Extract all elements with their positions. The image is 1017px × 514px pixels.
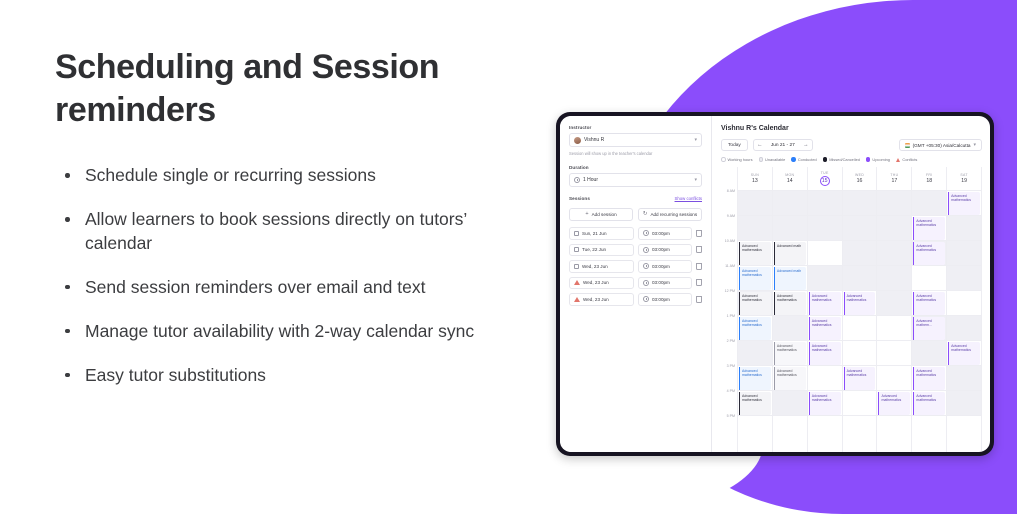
calendar-event[interactable]: Advanced math: [774, 267, 806, 290]
session-date-field[interactable]: Wed, 23 Jun: [569, 260, 634, 273]
avatar: [574, 137, 581, 144]
duration-label: Duration: [569, 165, 702, 170]
session-date-value: Wed, 23 Jun: [583, 297, 609, 302]
plus-icon: +: [585, 212, 588, 218]
day-number[interactable]: 14: [787, 178, 793, 184]
time-slot[interactable]: [912, 341, 946, 366]
time-slot[interactable]: [912, 191, 946, 216]
chevron-down-icon: ▾: [973, 143, 976, 148]
legend-item-unavail: Unavailable: [759, 157, 786, 162]
legend-swatch-working-icon: [721, 157, 726, 162]
time-slot[interactable]: [877, 191, 911, 216]
legend-swatch-missed-icon: [823, 157, 828, 162]
flag-icon: [905, 143, 910, 148]
time-slot[interactable]: [843, 391, 877, 416]
legend-label: Missed/Cancelled: [829, 157, 860, 162]
time-label: 5 PM: [721, 414, 737, 439]
chevron-down-icon: ▾: [694, 138, 697, 143]
calendar-event[interactable]: Advanced mathematics: [913, 242, 945, 265]
calendar-event[interactable]: Advanced mathematics: [739, 317, 771, 340]
time-slot[interactable]: [773, 391, 807, 416]
calendar-icon: [574, 264, 579, 269]
clock-icon: [643, 296, 649, 302]
session-row: Wed, 23 Jun03:00pm: [569, 260, 702, 273]
time-slot[interactable]: [877, 366, 911, 391]
day-name: SAT: [960, 173, 967, 177]
day-column-sun: SUN13Advanced mathematicsAdvanced mathem…: [737, 167, 772, 452]
session-date-value: Sun, 21 Jun: [582, 231, 607, 236]
day-name: SUN: [751, 173, 759, 177]
calendar-event[interactable]: Advanced mathematics: [948, 192, 980, 215]
session-time-value: 03:00pm: [652, 247, 670, 252]
delete-session-icon[interactable]: [696, 230, 702, 237]
session-date-field[interactable]: Tue, 22 Jun: [569, 244, 634, 257]
time-slot[interactable]: [947, 266, 981, 291]
calendar-event[interactable]: Advanced mathematics: [774, 292, 806, 315]
delete-session-icon[interactable]: [696, 263, 702, 270]
time-label: 4 PM: [721, 389, 737, 414]
calendar-event[interactable]: Advanced mathematics: [739, 392, 771, 415]
delete-session-icon[interactable]: [696, 296, 702, 303]
time-label: 10 AM: [721, 239, 737, 264]
calendar-event[interactable]: Advanced mathematics: [913, 292, 945, 315]
clock-icon: [643, 247, 649, 253]
time-slot[interactable]: [843, 241, 877, 266]
clock-icon: [574, 177, 580, 183]
slide-content-column: Scheduling and Session reminders Schedul…: [55, 46, 525, 408]
time-slot[interactable]: [877, 216, 911, 241]
time-slot[interactable]: [843, 191, 877, 216]
time-slot[interactable]: [843, 341, 877, 366]
day-columns: SUN13Advanced mathematicsAdvanced mathem…: [737, 167, 982, 452]
day-slots: Advanced mathematics: [877, 191, 911, 416]
time-slot[interactable]: [947, 216, 981, 241]
day-header: MON14: [773, 167, 807, 191]
time-slot[interactable]: [877, 266, 911, 291]
session-date-value: Wed, 23 Jun: [583, 280, 609, 285]
calendar-grid: 8 AM9 AM10 AM11 AM12 PM1 PM2 PM3 PM4 PM5…: [721, 167, 982, 452]
calendar-event[interactable]: Advanced mathematics: [774, 367, 806, 390]
calendar-panel: Vishnu R's Calendar Today ← Jun 21 - 27 …: [712, 116, 990, 452]
time-slot[interactable]: [773, 316, 807, 341]
time-slot[interactable]: [808, 241, 842, 266]
calendar-event[interactable]: Advanced math: [774, 242, 806, 265]
calendar-event[interactable]: Advanced mathematics: [809, 317, 841, 340]
sessions-label: Sessions: [569, 196, 590, 201]
session-date-value: Wed, 23 Jun: [582, 264, 608, 269]
day-name: FRI: [926, 173, 933, 177]
time-slot[interactable]: [773, 191, 807, 216]
arrow-left-icon[interactable]: ←: [754, 140, 766, 150]
day-header: SUN13: [738, 167, 772, 191]
warning-icon: [574, 280, 580, 286]
day-slots: Advanced mathematicsAdvanced mathematics…: [912, 191, 946, 416]
time-slot[interactable]: [912, 266, 946, 291]
calendar-event[interactable]: Advanced mathematics: [739, 292, 771, 315]
time-slot[interactable]: [877, 241, 911, 266]
time-slot[interactable]: [843, 266, 877, 291]
time-slot[interactable]: [843, 316, 877, 341]
day-name: WED: [855, 173, 864, 177]
add-session-button[interactable]: + Add session: [569, 208, 633, 221]
feature-bullet-item: Manage tutor availability with 2-way cal…: [55, 320, 500, 343]
calendar-event[interactable]: Advanced mathematics: [913, 392, 945, 415]
calendar-toolbar: Today ← Jun 21 - 27 → (GMT +05:30) Asia/…: [721, 139, 982, 151]
chevron-down-icon: ▾: [694, 178, 697, 183]
session-date-field[interactable]: Sun, 21 Jun: [569, 227, 634, 240]
delete-session-icon[interactable]: [696, 279, 702, 286]
calendar-event[interactable]: Advanced mathematics: [809, 342, 841, 365]
instructor-helper-text: Session will show up in the teacher's ca…: [569, 151, 702, 156]
day-number[interactable]: 17: [891, 178, 897, 184]
day-header: FRI18: [912, 167, 946, 191]
day-number[interactable]: 13: [752, 178, 758, 184]
time-slot[interactable]: [808, 366, 842, 391]
day-slots: Advanced mathematicsAdvanced mathematics…: [738, 191, 772, 416]
session-time-field[interactable]: 03:00pm: [638, 293, 692, 306]
session-time-value: 03:00pm: [652, 264, 670, 269]
legend-swatch-unavail-icon: [759, 157, 764, 162]
time-slot[interactable]: [738, 191, 772, 216]
legend-item-conflict: Conflicts: [896, 157, 917, 162]
time-label: 1 PM: [721, 314, 737, 339]
day-number[interactable]: 19: [961, 178, 967, 184]
legend-item-missed: Missed/Cancelled: [823, 157, 860, 162]
legend-label: Conducted: [798, 157, 817, 162]
calendar-event[interactable]: Advanced mathematics: [844, 367, 876, 390]
calendar-event[interactable]: Advanced mathematics: [739, 267, 771, 290]
time-label: 9 AM: [721, 214, 737, 239]
legend-label: Unavailable: [765, 157, 785, 162]
time-axis: 8 AM9 AM10 AM11 AM12 PM1 PM2 PM3 PM4 PM5…: [721, 167, 737, 452]
clock-icon: [643, 263, 649, 269]
time-label: 3 PM: [721, 364, 737, 389]
calendar-nav-group: Today ← Jun 21 - 27 →: [721, 139, 813, 151]
time-slot[interactable]: [947, 241, 981, 266]
day-slots: Advanced mathematicsAdvanced mathematics: [843, 191, 877, 416]
time-slot[interactable]: [808, 266, 842, 291]
time-slot[interactable]: [947, 291, 981, 316]
session-row: Tue, 22 Jun03:00pm: [569, 244, 702, 257]
day-name: MON: [785, 173, 794, 177]
time-slot[interactable]: [877, 316, 911, 341]
calendar-icon: [574, 231, 579, 236]
add-buttons-row: + Add session ↻ Add recurring sessions: [569, 208, 702, 221]
day-header: THU17: [877, 167, 911, 191]
calendar-event[interactable]: Advanced mathematics: [913, 217, 945, 240]
time-label: 11 AM: [721, 264, 737, 289]
calendar-event[interactable]: Advanced mathematics: [878, 392, 910, 415]
calendar-icon: [574, 247, 579, 252]
time-slot[interactable]: [808, 191, 842, 216]
timezone-value: (GMT +05:30) Asia/Calcutta: [913, 143, 971, 148]
duration-value: 1 Hour: [583, 177, 691, 183]
legend-swatch-conflict-icon: [896, 158, 901, 162]
calendar-event[interactable]: Advanced mathematics: [948, 342, 980, 365]
instructor-value: Vishnu R: [584, 137, 691, 143]
day-column-thu: THU17Advanced mathematics: [876, 167, 911, 452]
clock-icon: [643, 230, 649, 236]
instructor-select[interactable]: Vishnu R ▾: [569, 133, 702, 147]
calendar-event[interactable]: Advanced mathematics: [739, 367, 771, 390]
time-slot[interactable]: [947, 391, 981, 416]
day-column-fri: FRI18Advanced mathematicsAdvanced mathem…: [911, 167, 946, 452]
page-title: Scheduling and Session reminders: [55, 46, 475, 132]
legend-item-upcoming: Upcoming: [866, 157, 890, 162]
day-slots: Advanced mathematicsAdvanced mathematics…: [808, 191, 842, 416]
session-row: Wed, 23 Jun03:00pm: [569, 293, 702, 306]
calendar-event[interactable]: Advanced mathematics: [809, 292, 841, 315]
clock-icon: [643, 280, 649, 286]
session-time-field[interactable]: 03:00pm: [638, 244, 692, 257]
today-button[interactable]: Today: [721, 139, 748, 151]
day-column-wed: WED16Advanced mathematicsAdvanced mathem…: [842, 167, 877, 452]
session-date-field[interactable]: Wed, 23 Jun: [569, 293, 634, 306]
timezone-select[interactable]: (GMT +05:30) Asia/Calcutta ▾: [899, 139, 982, 151]
day-column-tue: TUE15Advanced mathematicsAdvanced mathem…: [807, 167, 842, 452]
session-list: Sun, 21 Jun03:00pmTue, 22 Jun03:00pmWed,…: [569, 227, 702, 306]
session-date-field[interactable]: Wed, 23 Jun: [569, 277, 634, 290]
time-slot[interactable]: [877, 341, 911, 366]
day-column-sat: SAT19Advanced mathematicsAdvanced mathem…: [946, 167, 982, 452]
session-date-value: Tue, 22 Jun: [582, 247, 606, 252]
time-slot[interactable]: [738, 341, 772, 366]
day-slots: Advanced mathematicsAdvanced mathematics: [947, 191, 981, 416]
session-time-value: 03:00pm: [652, 231, 670, 236]
time-label: 8 AM: [721, 189, 737, 214]
day-header: TUE15: [808, 167, 842, 191]
time-label: 2 PM: [721, 339, 737, 364]
time-slot[interactable]: [738, 216, 772, 241]
day-header: SAT19: [947, 167, 981, 191]
day-name: THU: [890, 173, 898, 177]
warning-icon: [574, 296, 580, 302]
delete-session-icon[interactable]: [696, 246, 702, 253]
calendar-event[interactable]: Advanced mathematics: [774, 342, 806, 365]
time-slot[interactable]: [947, 316, 981, 341]
session-row: Wed, 23 Jun03:00pm: [569, 277, 702, 290]
time-slot[interactable]: [808, 216, 842, 241]
time-label: 12 PM: [721, 289, 737, 314]
day-number[interactable]: 16: [857, 178, 863, 184]
time-slot[interactable]: [947, 366, 981, 391]
app-screen: Instructor Vishnu R ▾ Session will show …: [560, 116, 990, 452]
legend-item-working: Working hours: [721, 157, 753, 162]
day-number[interactable]: 15: [820, 176, 830, 186]
device-mockup-frame: Instructor Vishnu R ▾ Session will show …: [556, 112, 994, 456]
feature-bullet-item: Schedule single or recurring sessions: [55, 164, 500, 187]
session-time-value: 03:00pm: [652, 297, 670, 302]
legend-item-conducted: Conducted: [791, 157, 816, 162]
calendar-legend: Working hoursUnavailableConductedMissed/…: [721, 157, 982, 162]
feature-bullet-item: Easy tutor substitutions: [55, 364, 500, 387]
legend-swatch-upcoming-icon: [866, 157, 871, 162]
calendar-event[interactable]: Advanced mathematics: [844, 292, 876, 315]
feature-bullet-item: Allow learners to book sessions directly…: [55, 208, 500, 254]
feature-bullet-item: Send session reminders over email and te…: [55, 276, 500, 299]
repeat-icon: ↻: [643, 212, 648, 218]
sessions-header: Sessions Show conflicts: [569, 196, 702, 204]
day-slots: Advanced mathAdvanced mathAdvanced mathe…: [773, 191, 807, 416]
add-recurring-label: Add recurring sessions: [650, 212, 697, 217]
time-slot[interactable]: [877, 291, 911, 316]
day-column-mon: MON14Advanced mathAdvanced mathAdvanced …: [772, 167, 807, 452]
session-time-field[interactable]: 03:00pm: [638, 227, 692, 240]
instructor-label: Instructor: [569, 125, 702, 130]
session-row: Sun, 21 Jun03:00pm: [569, 227, 702, 240]
day-number[interactable]: 18: [926, 178, 932, 184]
feature-bullet-list: Schedule single or recurring sessionsAll…: [55, 164, 525, 387]
time-slot[interactable]: [773, 216, 807, 241]
day-name: TUE: [821, 171, 829, 175]
legend-label: Upcoming: [872, 157, 890, 162]
session-time-field[interactable]: 03:00pm: [638, 260, 692, 273]
calendar-event[interactable]: Advanced mathematics: [809, 392, 841, 415]
session-time-field[interactable]: 03:00pm: [638, 277, 692, 290]
show-conflicts-link[interactable]: Show conflicts: [675, 196, 702, 201]
day-header: WED16: [843, 167, 877, 191]
add-session-label: Add session: [592, 212, 617, 217]
legend-label: Working hours: [728, 157, 753, 162]
arrow-right-icon[interactable]: →: [800, 140, 812, 150]
legend-swatch-conducted-icon: [791, 157, 796, 162]
duration-select[interactable]: 1 Hour ▾: [569, 173, 702, 187]
legend-label: Conflicts: [902, 157, 917, 162]
session-time-value: 03:00pm: [652, 280, 670, 285]
session-setup-sidebar: Instructor Vishnu R ▾ Session will show …: [560, 116, 712, 452]
calendar-event[interactable]: Advanced mathematics: [739, 242, 771, 265]
calendar-event[interactable]: Advanced mathem...: [913, 317, 945, 340]
add-recurring-sessions-button[interactable]: ↻ Add recurring sessions: [638, 208, 702, 221]
calendar-title: Vishnu R's Calendar: [721, 125, 982, 132]
time-slot[interactable]: [843, 216, 877, 241]
date-range-nav: ← Jun 21 - 27 →: [753, 139, 813, 151]
date-range-label: Jun 21 - 27: [766, 143, 800, 148]
calendar-event[interactable]: Advanced mathematics: [913, 367, 945, 390]
